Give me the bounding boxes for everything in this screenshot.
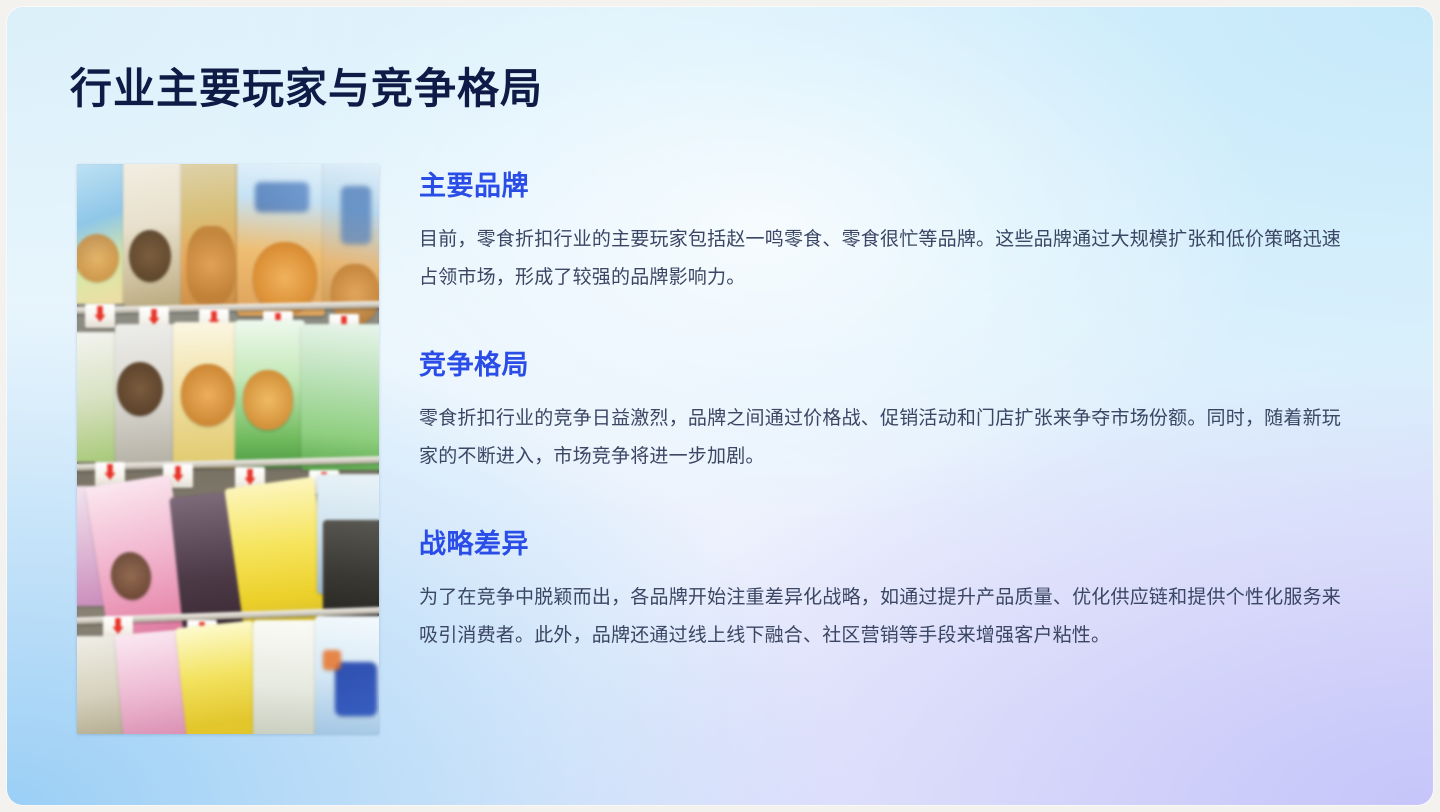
snack-packet <box>77 332 117 462</box>
down-arrow-icon <box>95 306 106 322</box>
down-arrow-icon <box>113 618 124 634</box>
down-arrow-icon <box>149 309 160 325</box>
packet-window <box>77 234 119 282</box>
section-competitive-landscape: 竞争格局 零食折扣行业的竞争日益激烈，品牌之间通过价格战、促销活动和门店扩张来争… <box>419 343 1341 476</box>
packet-window <box>243 370 293 430</box>
snack-packet <box>301 324 379 470</box>
packet-label-text <box>341 186 371 244</box>
slide-canvas: 行业主要玩家与竞争格局 <box>7 7 1433 805</box>
packet-label-text <box>323 650 341 670</box>
down-arrow-icon <box>173 466 184 482</box>
section-body: 为了在竞争中脱颖而出，各品牌开始注重差异化战略，如通过提升产品质量、优化供应链和… <box>419 579 1341 655</box>
packet-window <box>187 226 235 304</box>
section-heading: 主要品牌 <box>419 164 1341 203</box>
down-arrow-icon <box>105 464 116 480</box>
section-body: 目前，零食折扣行业的主要玩家包括赵一鸣零食、零食很忙等品牌。这些品牌通过大规模扩… <box>419 221 1341 297</box>
packet-label-text <box>335 662 377 716</box>
section-heading: 竞争格局 <box>419 343 1341 382</box>
content-column: 主要品牌 目前，零食折扣行业的主要玩家包括赵一鸣零食、零食很忙等品牌。这些品牌通… <box>419 164 1341 655</box>
section-strategy-differentiation: 战略差异 为了在竞争中脱颖而出，各品牌开始注重差异化战略，如通过提升产品质量、优… <box>419 522 1341 655</box>
page-title: 行业主要玩家与竞争格局 <box>70 65 543 113</box>
packet-window <box>129 230 171 282</box>
price-tag <box>85 304 115 328</box>
section-body: 零食折扣行业的竞争日益激烈，品牌之间通过价格战、促销活动和门店扩张来争夺市场份额… <box>419 400 1341 476</box>
section-heading: 战略差异 <box>419 522 1341 561</box>
packet-window <box>117 362 163 416</box>
packet-label-text <box>255 182 309 212</box>
section-main-brands: 主要品牌 目前，零食折扣行业的主要玩家包括赵一鸣零食、零食很忙等品牌。这些品牌通… <box>419 164 1341 297</box>
shelf-photo <box>77 164 379 734</box>
packet-window <box>181 364 235 426</box>
snack-packet <box>175 620 265 734</box>
down-arrow-icon <box>245 469 256 485</box>
